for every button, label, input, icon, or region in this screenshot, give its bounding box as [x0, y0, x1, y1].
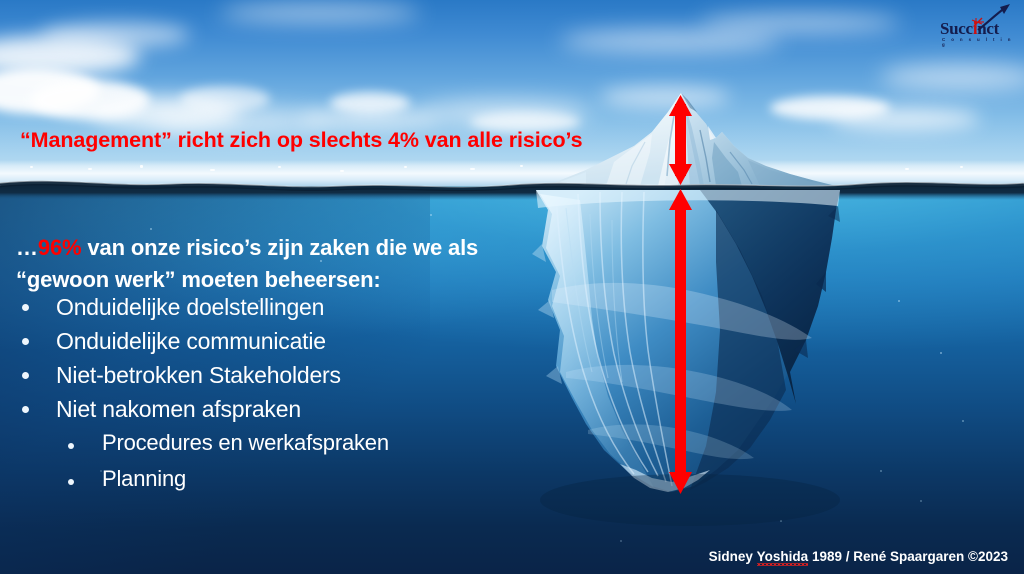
headline-text: “Management” richt zich op slechts 4% va… — [20, 128, 582, 153]
credit-misspelled-word: Yoshida — [757, 549, 809, 564]
list-item-label: Planning — [102, 466, 186, 492]
list-item-label: Onduidelijke doelstellingen — [56, 294, 324, 321]
lead-paragraph: …96% van onze risico’s zijn zaken die we… — [16, 232, 576, 296]
slide-canvas: “Management” richt zich op slechts 4% va… — [0, 0, 1024, 574]
bullet-dot-icon — [68, 479, 74, 485]
credit-line: Sidney Yoshida 1989 / René Spaargaren ©2… — [709, 549, 1008, 564]
list-item: Procedures en werkafspraken — [0, 432, 620, 468]
logo-word-part-a: Succ — [940, 19, 973, 38]
bullet-dot-icon — [22, 406, 29, 413]
lead-highlight: 96% — [38, 235, 82, 260]
list-item-label: Niet nakomen afspraken — [56, 396, 301, 423]
list-item: Niet nakomen afspraken — [0, 398, 620, 432]
list-item-label: Niet-betrokken Stakeholders — [56, 362, 341, 389]
list-item: Onduidelijke communicatie — [0, 330, 620, 364]
list-item-label: Procedures en werkafspraken — [102, 430, 389, 456]
bullet-list: Onduidelijke doelstellingen Onduidelijke… — [0, 296, 620, 504]
lead-prefix: … — [16, 235, 38, 260]
succinct-logo[interactable]: Succinct C o n s u l t i n g — [938, 2, 1018, 48]
lead-line2: “gewoon werk” moeten beheersen: — [16, 267, 381, 292]
logo-wordmark: Succinct — [940, 19, 999, 39]
list-item: Planning — [0, 468, 620, 504]
list-item: Niet-betrokken Stakeholders — [0, 364, 620, 398]
credit-part2: 1989 / René Spaargaren ©2023 — [808, 549, 1008, 564]
logo-subtitle: C o n s u l t i n g — [942, 37, 1018, 47]
bullet-dot-icon — [22, 372, 29, 379]
bullet-dot-icon — [68, 443, 74, 449]
bullet-dot-icon — [22, 338, 29, 345]
below-water-arrow — [669, 189, 692, 494]
list-item-label: Onduidelijke communicatie — [56, 328, 326, 355]
lead-rest-line1: van onze risico’s zijn zaken die we als — [81, 235, 478, 260]
above-water-arrow — [669, 95, 692, 185]
logo-word-part-b: nct — [977, 19, 999, 38]
list-item: Onduidelijke doelstellingen — [0, 296, 620, 330]
credit-part1: Sidney — [709, 549, 757, 564]
bullet-dot-icon — [22, 304, 29, 311]
